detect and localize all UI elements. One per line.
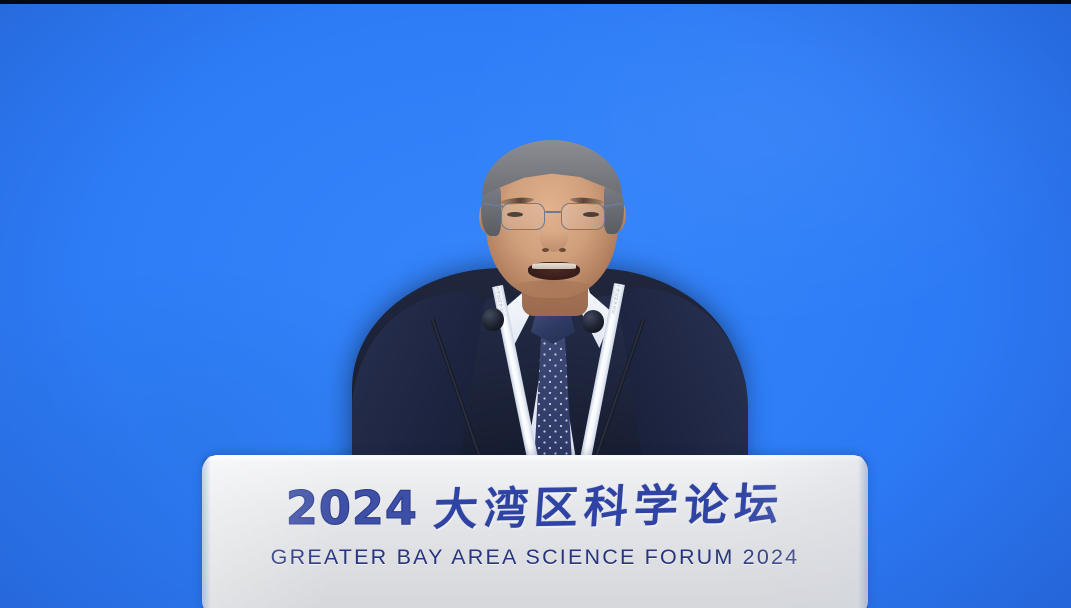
eyeglass-bridge (545, 211, 561, 213)
eyeglass-temple-left (483, 202, 503, 207)
forum-title-english: GREATER BAY AREA SCIENCE FORUM 2024 (271, 545, 800, 570)
forum-title-chinese: 大湾区科学论坛 (432, 483, 786, 533)
speaker-teeth (532, 263, 576, 269)
forum-year-text: 2024 (286, 485, 418, 531)
microphone-head-left (482, 308, 504, 331)
lectern-branding: 2024 大湾区科学论坛 GREATER BAY AREA SCIENCE FO… (202, 455, 868, 608)
speaker-nostril-right (559, 248, 566, 252)
lectern-title-row: 2024 大湾区科学论坛 (286, 485, 784, 531)
speaker-nose (540, 218, 568, 252)
microphone-head-right (582, 310, 604, 333)
eyeglass-lens-left (501, 203, 545, 230)
video-frame: 大湾区科学论坛 大湾区科学论坛 (0, 0, 1071, 608)
speaker-chin-shadow (506, 280, 598, 302)
speaker-nostril-left (542, 248, 549, 252)
eyeglass-temple-right (603, 202, 623, 207)
